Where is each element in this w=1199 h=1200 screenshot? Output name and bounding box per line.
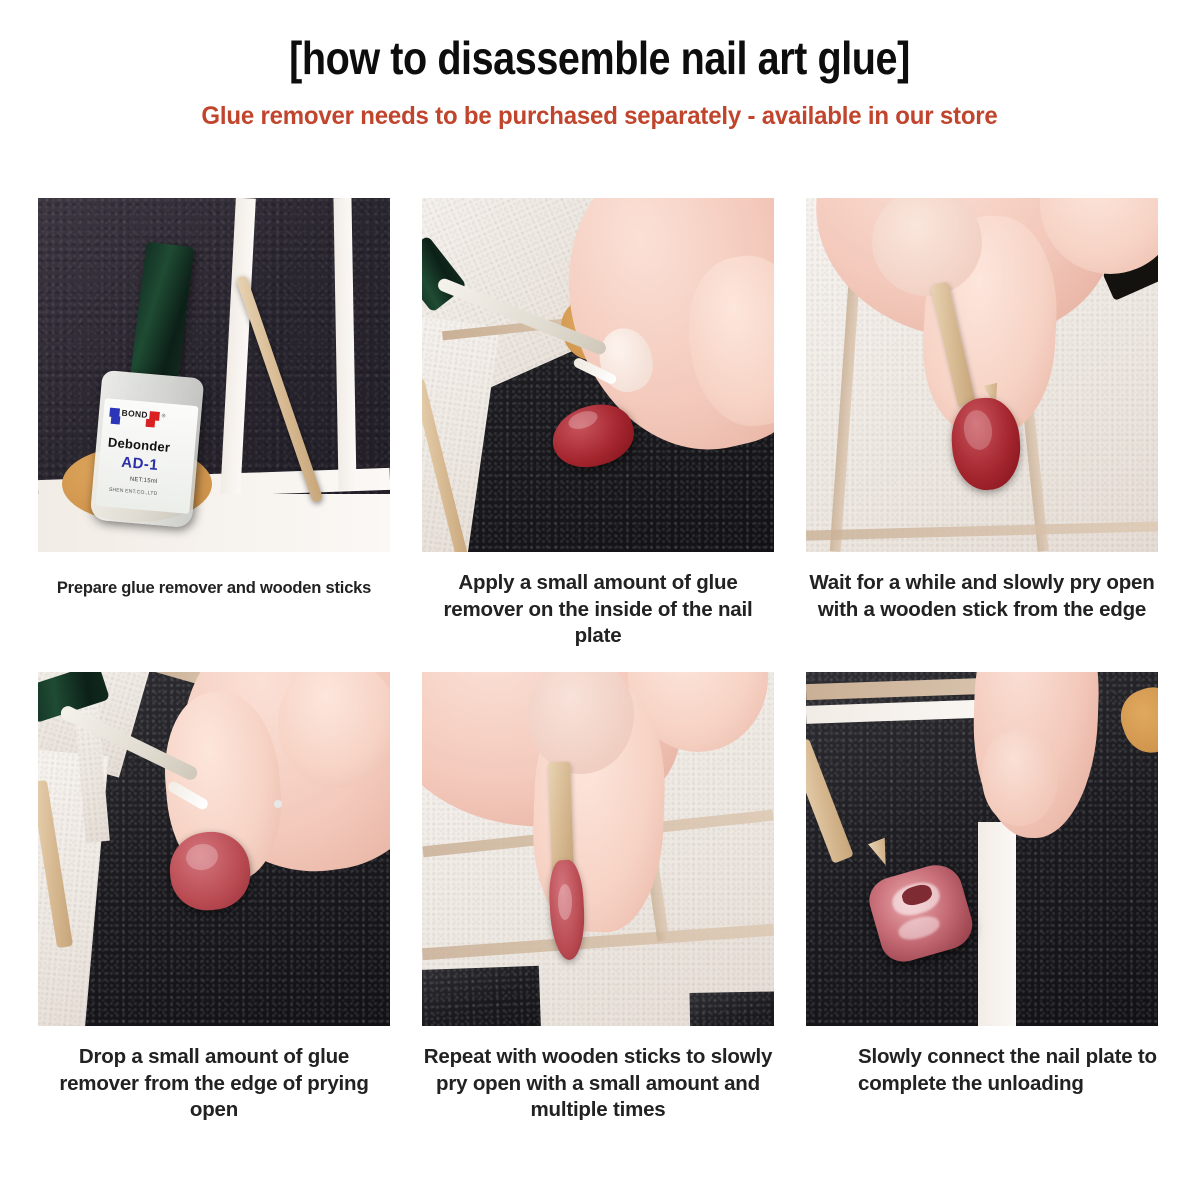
step-card-4: Drop a small amount of glue remover from… (38, 672, 390, 1142)
page-subtitle: Glue remover needs to be purchased separ… (24, 102, 1175, 131)
nail-highlight (558, 884, 572, 920)
step-caption-3: Wait for a while and slowly pry open wit… (806, 552, 1158, 623)
step-photo-2 (422, 198, 774, 552)
header: [how to disassemble nail art glue] Glue … (0, 0, 1199, 131)
label-company-text: SHEN ENT.CO.,LTD (109, 487, 158, 497)
wooden-stick-icon (236, 275, 324, 504)
photo-dark-panel-left (422, 966, 541, 1026)
step-card-6: Slowly connect the nail plate to complet… (806, 672, 1158, 1142)
bottle-cap-icon (130, 242, 195, 387)
bottle-label: BOND ® Debonder AD-1 NET:15ml SHEN ENT.C… (95, 398, 198, 514)
wooden-stick-icon (548, 762, 574, 873)
step-photo-5 (422, 672, 774, 1026)
step-caption-4: Drop a small amount of glue remover from… (38, 1026, 390, 1124)
photo-line-vertical-left (220, 198, 256, 498)
photo-tan-patch (1113, 680, 1158, 761)
steps-grid-row-1: BOND ® Debonder AD-1 NET:15ml SHEN ENT.C… (38, 198, 1160, 672)
label-product-text: Debonder (107, 435, 170, 455)
step-caption-6: Slowly connect the nail plate to complet… (806, 1026, 1158, 1097)
wooden-stick-tip-icon (868, 838, 894, 869)
step-card-5: Repeat with wooden sticks to slowly pry … (422, 672, 774, 1142)
label-code-text: AD-1 (121, 454, 159, 474)
steps-grid-row-2: Drop a small amount of glue remover from… (38, 672, 1160, 1142)
step-caption-5: Repeat with wooden sticks to slowly pry … (422, 1026, 774, 1124)
step-photo-3 (806, 198, 1158, 552)
photo-line-vertical-right (333, 198, 356, 490)
infographic-page: [how to disassemble nail art glue] Glue … (0, 0, 1199, 1200)
step-card-1: BOND ® Debonder AD-1 NET:15ml SHEN ENT.C… (38, 198, 390, 672)
photo-dark-panel-right (690, 991, 774, 1026)
step-photo-6 (806, 672, 1158, 1026)
photo-sparkle (274, 800, 282, 808)
photo-white-line-vertical (978, 822, 1016, 1026)
photo-tan-stripe-bottom (806, 521, 1158, 540)
natural-nail-shape (982, 730, 1058, 826)
step-photo-1: BOND ® Debonder AD-1 NET:15ml SHEN ENT.C… (38, 198, 390, 552)
wooden-stick-icon (806, 738, 854, 864)
step-caption-2: Apply a small amount of glue remover on … (422, 552, 774, 650)
label-net-text: NET:15ml (130, 477, 158, 485)
step-card-3: Wait for a while and slowly pry open wit… (806, 198, 1158, 672)
step-caption-1: Prepare glue remover and wooden sticks (38, 552, 390, 599)
step-photo-4 (38, 672, 390, 1026)
page-title: [how to disassemble nail art glue] (84, 34, 1115, 82)
step-card-2: Apply a small amount of glue remover on … (422, 198, 774, 672)
